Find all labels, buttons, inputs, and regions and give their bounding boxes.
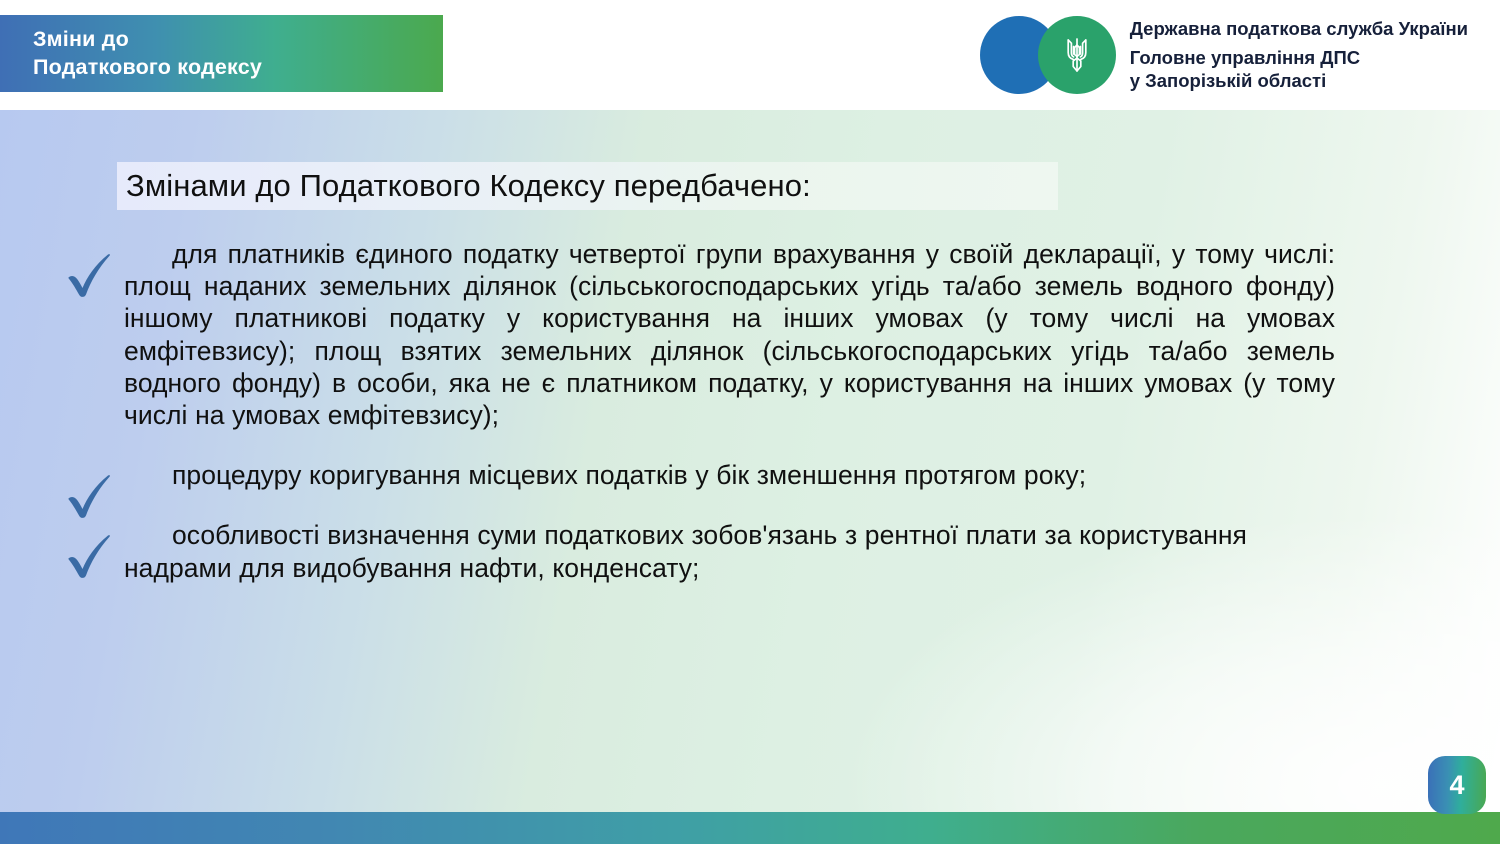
list-item-text: процедуру коригування місцевих податків … <box>124 459 1335 491</box>
check-mark-icon <box>62 244 120 302</box>
section-heading: Змінами до Податкового Кодексу передбаче… <box>117 162 1058 210</box>
org-name-line-2: Головне управління ДПС <box>1130 47 1468 70</box>
list-item-text: особливості визначення суми податкових з… <box>124 519 1335 583</box>
banner-title-line-2: Податкового кодексу <box>33 54 443 82</box>
list-item-text: для платників єдиного податку четвертої … <box>124 238 1335 431</box>
organization-name: Державна податкова служба України Головн… <box>1130 17 1468 93</box>
ukrainian-trident-emblem-icon <box>1060 33 1094 77</box>
list-item: процедуру коригування місцевих податків … <box>0 459 1500 491</box>
page-number: 4 <box>1449 772 1464 799</box>
bullet-list: для платників єдиного податку четвертої … <box>0 238 1500 584</box>
list-item: особливості визначення суми податкових з… <box>0 519 1500 583</box>
section-heading-text: Змінами до Податкового Кодексу передбаче… <box>126 168 811 204</box>
list-item: для платників єдиного податку четвертої … <box>0 238 1500 431</box>
org-name-line-3: у Запорізькій області <box>1130 70 1468 93</box>
org-name-line-1: Державна податкова служба України <box>1130 17 1468 40</box>
slide-title-banner: Зміни до Податкового кодексу <box>0 15 443 92</box>
check-mark-icon <box>62 525 120 583</box>
banner-title-line-1: Зміни до <box>33 26 443 54</box>
slide-header: Зміни до Податкового кодексу <box>0 0 1500 110</box>
check-mark-icon <box>62 465 120 523</box>
slide-body: Змінами до Податкового Кодексу передбаче… <box>0 110 1500 812</box>
logo-marks <box>980 16 1116 94</box>
slide: Зміни до Податкового кодексу <box>0 0 1500 844</box>
footer-gradient-bar <box>0 812 1500 844</box>
organization-logo: Державна податкова служба України Головн… <box>980 16 1468 94</box>
green-circle-icon <box>1038 16 1116 94</box>
page-number-badge: 4 <box>1428 756 1486 814</box>
